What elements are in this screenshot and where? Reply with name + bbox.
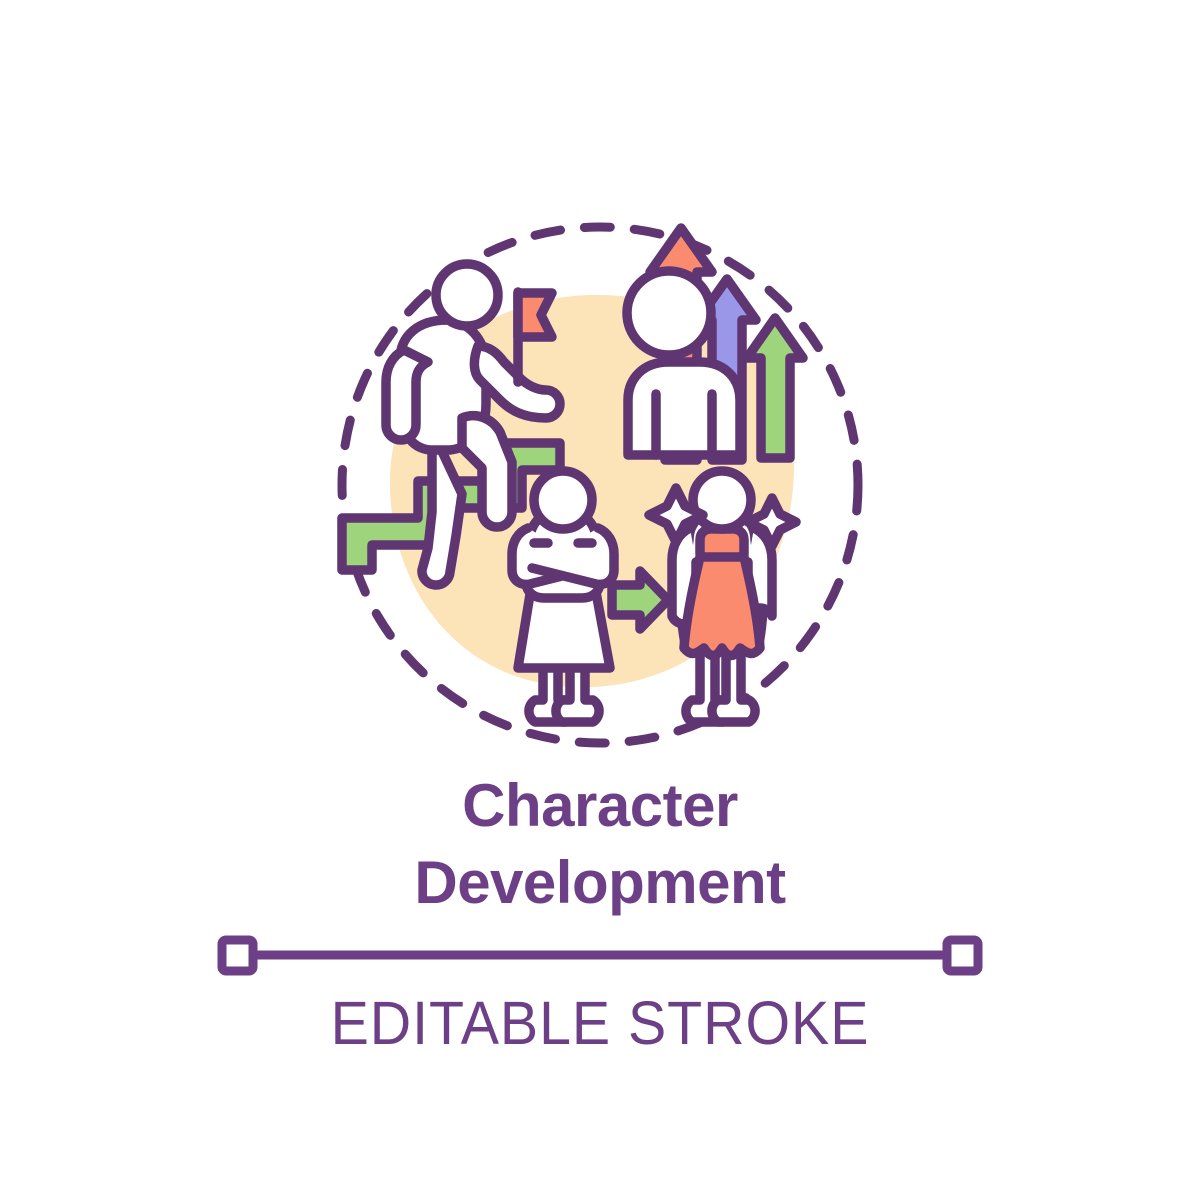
stroke-handle-left[interactable] (222, 940, 253, 971)
title-line-1: Character (0, 768, 1200, 845)
after-person (649, 471, 796, 722)
editable-stroke-label: EDITABLE STROKE (36, 988, 1164, 1058)
character-development-illustration: .ol { fill: none; stroke: #5f3672; strok… (0, 0, 1200, 790)
stroke-handle-right[interactable] (947, 940, 978, 971)
title-line-2: Development (0, 845, 1200, 922)
page-title: Character Development (0, 768, 1200, 922)
concept-icon-canvas: .ol { fill: none; stroke: #5f3672; strok… (0, 0, 1200, 1200)
editable-stroke-handle-bar (0, 920, 1200, 990)
